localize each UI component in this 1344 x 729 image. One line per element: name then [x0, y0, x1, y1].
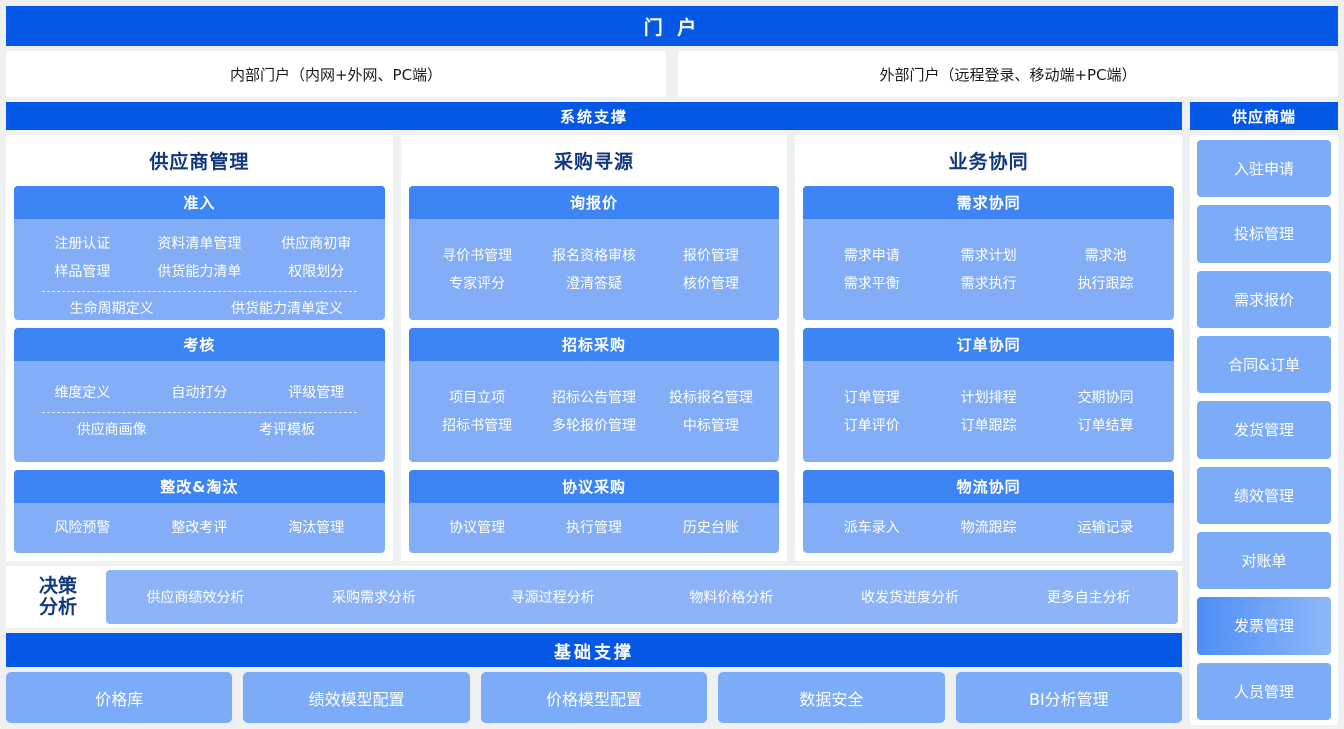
supplier-item-label: 合同&订单 [1228, 354, 1300, 375]
module-item[interactable]: 样品管理 [24, 261, 141, 281]
decision-item[interactable]: 采购需求分析 [285, 587, 464, 607]
module-item[interactable]: 寻价书管理 [419, 245, 536, 265]
module-item[interactable]: 需求计划 [930, 245, 1047, 265]
module-item[interactable]: 交期协同 [1047, 387, 1164, 407]
module-item[interactable]: 整改考评 [141, 517, 258, 537]
supplier-side-label: 供应商端 [1232, 106, 1296, 127]
module-item[interactable]: 供货能力清单定义 [199, 298, 374, 318]
module-item[interactable]: 考评模板 [199, 419, 374, 439]
basic-support-section: 基础支撑 价格库 绩效模型配置 价格模型配置 数据安全 [6, 633, 1182, 729]
basic-item-performance-model-config[interactable]: 绩效模型配置 [243, 672, 469, 723]
decision-item[interactable]: 寻源过程分析 [463, 587, 642, 607]
supplier-item-entry-application[interactable]: 入驻申请 [1197, 140, 1331, 197]
module-item[interactable]: 历史台账 [652, 517, 769, 537]
group-agreement-purchase: 协议采购 协议管理 执行管理 历史台账 [409, 470, 780, 553]
section-header-band: 系统支撑 供应商端 [6, 102, 1338, 130]
group-rectify-eliminate: 整改&淘汰 风险预警 整改考评 淘汰管理 [14, 470, 385, 553]
supplier-item-bid-management[interactable]: 投标管理 [1197, 205, 1331, 262]
basic-item-bi-analysis-management[interactable]: BI分析管理 [956, 672, 1182, 723]
module-item[interactable]: 权限划分 [258, 261, 375, 281]
supplier-item-contract-order[interactable]: 合同&订单 [1197, 336, 1331, 393]
group-head: 物流协同 [803, 470, 1174, 503]
group-head: 询报价 [409, 186, 780, 219]
module-row: 协议管理 执行管理 历史台账 [419, 513, 770, 541]
module-item[interactable]: 专家评分 [419, 273, 536, 293]
module-item[interactable]: 报价管理 [652, 245, 769, 265]
supplier-item-demand-quotation[interactable]: 需求报价 [1197, 271, 1331, 328]
module-row: 供应商画像 考评模板 [24, 415, 375, 443]
group-admission: 准入 注册认证 资料清单管理 供应商初审 样品管理 供货能力清单 权限划分 [14, 186, 385, 320]
module-row: 招标书管理 多轮报价管理 中标管理 [419, 411, 770, 439]
supplier-side-column: 入驻申请 投标管理 需求报价 合同&订单 发货管理 绩效管理 对账单 发票管理 [1190, 135, 1338, 725]
basic-item-price-model-config[interactable]: 价格模型配置 [481, 672, 707, 723]
module-item[interactable]: 需求申请 [813, 245, 930, 265]
basic-support-items: 价格库 绩效模型配置 价格模型配置 数据安全 BI分析管理 [6, 672, 1182, 729]
supplier-item-invoice-management[interactable]: 发票管理 [1197, 597, 1331, 654]
decision-item[interactable]: 更多自主分析 [999, 587, 1178, 607]
portal-title-bar: 门 户 [6, 6, 1338, 46]
module-row: 订单评价 订单跟踪 订单结算 [813, 411, 1164, 439]
module-row: 风险预警 整改考评 淘汰管理 [24, 513, 375, 541]
module-item[interactable]: 执行管理 [536, 517, 653, 537]
left-area: 供应商管理 准入 注册认证 资料清单管理 供应商初审 样品管理 供货能力清单 [6, 135, 1182, 725]
module-row: 需求申请 需求计划 需求池 [813, 241, 1164, 269]
module-item[interactable]: 投标报名管理 [652, 387, 769, 407]
card-title: 业务协同 [803, 141, 1174, 178]
module-item[interactable]: 协议管理 [419, 517, 536, 537]
portal-external[interactable]: 外部门户（远程登录、移动端+PC端） [678, 51, 1338, 97]
module-item[interactable]: 需求平衡 [813, 273, 930, 293]
module-item[interactable]: 计划排程 [930, 387, 1047, 407]
module-item[interactable]: 订单评价 [813, 415, 930, 435]
group-head: 订单协同 [803, 328, 1174, 361]
module-item[interactable]: 招标公告管理 [536, 387, 653, 407]
group-body: 维度定义 自动打分 评级管理 供应商画像 考评模板 [14, 361, 385, 462]
module-item[interactable]: 派车录入 [813, 517, 930, 537]
module-item[interactable]: 多轮报价管理 [536, 415, 653, 435]
group-head: 协议采购 [409, 470, 780, 503]
portal-internal-label: 内部门户（内网+外网、PC端） [230, 64, 442, 85]
module-row: 样品管理 供货能力清单 权限划分 [24, 257, 375, 285]
basic-support-label: 基础支撑 [554, 638, 634, 663]
decision-label-line1: 决策 [39, 576, 77, 597]
supplier-item-label: 需求报价 [1234, 289, 1294, 310]
supplier-item-reconciliation-statement[interactable]: 对账单 [1197, 532, 1331, 589]
group-body: 协议管理 执行管理 历史台账 [409, 503, 780, 553]
decision-label-line2: 分析 [39, 597, 77, 618]
module-row: 项目立项 招标公告管理 投标报名管理 [419, 383, 770, 411]
group-head: 考核 [14, 328, 385, 361]
group-order-collaboration: 订单协同 订单管理 计划排程 交期协同 订单评价 订单跟踪 订单结算 [803, 328, 1174, 462]
module-item[interactable]: 需求执行 [930, 273, 1047, 293]
module-item[interactable]: 注册认证 [24, 233, 141, 253]
system-support-label: 系统支撑 [560, 106, 628, 127]
group-logistics-collaboration: 物流协同 派车录入 物流跟踪 运输记录 [803, 470, 1174, 553]
module-row: 专家评分 澄清答疑 核价管理 [419, 269, 770, 297]
basic-item-price-library[interactable]: 价格库 [6, 672, 232, 723]
module-row: 注册认证 资料清单管理 供应商初审 [24, 229, 375, 257]
card-title: 采购寻源 [409, 141, 780, 178]
group-head: 招标采购 [409, 328, 780, 361]
group-body: 注册认证 资料清单管理 供应商初审 样品管理 供货能力清单 权限划分 [14, 219, 385, 320]
supplier-side-header: 供应商端 [1190, 102, 1338, 130]
supplier-item-label: 入驻申请 [1234, 158, 1294, 179]
module-item[interactable]: 核价管理 [652, 273, 769, 293]
decision-item[interactable]: 收发货进度分析 [821, 587, 1000, 607]
module-row: 需求平衡 需求执行 执行跟踪 [813, 269, 1164, 297]
divider [42, 291, 357, 292]
supplier-item-performance-management[interactable]: 绩效管理 [1197, 467, 1331, 524]
group-head: 整改&淘汰 [14, 470, 385, 503]
basic-item-label: BI分析管理 [1029, 686, 1109, 710]
group-demand-collaboration: 需求协同 需求申请 需求计划 需求池 需求平衡 需求执行 执行跟踪 [803, 186, 1174, 320]
supplier-item-shipping-management[interactable]: 发货管理 [1197, 401, 1331, 458]
portal-title-text: 门 户 [644, 13, 701, 40]
decision-item[interactable]: 物料价格分析 [642, 587, 821, 607]
module-item[interactable]: 生命周期定义 [24, 298, 199, 318]
module-row: 维度定义 自动打分 评级管理 [24, 378, 375, 406]
module-item[interactable]: 招标书管理 [419, 415, 536, 435]
module-item[interactable]: 项目立项 [419, 387, 536, 407]
module-row: 生命周期定义 供货能力清单定义 [24, 294, 375, 320]
decision-item[interactable]: 供应商绩效分析 [106, 587, 285, 607]
module-row: 派车录入 物流跟踪 运输记录 [813, 513, 1164, 541]
module-item[interactable]: 淘汰管理 [258, 517, 375, 537]
module-row: 寻价书管理 报名资格审核 报价管理 [419, 241, 770, 269]
group-head: 准入 [14, 186, 385, 219]
portal-internal[interactable]: 内部门户（内网+外网、PC端） [6, 51, 666, 97]
module-item[interactable]: 澄清答疑 [536, 273, 653, 293]
group-body: 风险预警 整改考评 淘汰管理 [14, 503, 385, 553]
group-inquiry-quotation: 询报价 寻价书管理 报名资格审核 报价管理 专家评分 澄清答疑 核价管理 [409, 186, 780, 320]
module-item[interactable]: 需求池 [1047, 245, 1164, 265]
module-item[interactable]: 报名资格审核 [536, 245, 653, 265]
module-item[interactable]: 执行跟踪 [1047, 273, 1164, 293]
decision-analysis-section: 决策 分析 供应商绩效分析 采购需求分析 寻源过程分析 物料价格分析 收发货进度… [6, 566, 1182, 628]
architecture-diagram: 门 户 内部门户（内网+外网、PC端） 外部门户（远程登录、移动端+PC端） 系… [0, 0, 1344, 725]
basic-item-label: 价格模型配置 [546, 686, 642, 710]
module-item[interactable]: 风险预警 [24, 517, 141, 537]
group-body: 需求申请 需求计划 需求池 需求平衡 需求执行 执行跟踪 [803, 219, 1174, 320]
group-body: 寻价书管理 报名资格审核 报价管理 专家评分 澄清答疑 核价管理 [409, 219, 780, 320]
supplier-item-label: 发票管理 [1234, 615, 1294, 636]
supplier-item-label: 投标管理 [1234, 223, 1294, 244]
supplier-item-label: 绩效管理 [1234, 485, 1294, 506]
system-support-header: 系统支撑 [6, 102, 1182, 130]
module-item[interactable]: 供应商初审 [258, 233, 375, 253]
group-assessment: 考核 维度定义 自动打分 评级管理 供应商画像 考评模板 [14, 328, 385, 462]
module-item[interactable]: 供应商画像 [24, 419, 199, 439]
supplier-item-label: 人员管理 [1234, 681, 1294, 702]
group-body: 订单管理 计划排程 交期协同 订单评价 订单跟踪 订单结算 [803, 361, 1174, 462]
card-business-collaboration: 业务协同 需求协同 需求申请 需求计划 需求池 需求平衡 需求执行 [795, 135, 1182, 561]
basic-item-label: 数据安全 [799, 686, 863, 710]
decision-analysis-items: 供应商绩效分析 采购需求分析 寻源过程分析 物料价格分析 收发货进度分析 更多自… [106, 570, 1178, 624]
main-body: 供应商管理 准入 注册认证 资料清单管理 供应商初审 样品管理 供货能力清单 [6, 135, 1338, 725]
card-supplier-management: 供应商管理 准入 注册认证 资料清单管理 供应商初审 样品管理 供货能力清单 [6, 135, 393, 561]
supplier-item-personnel-management[interactable]: 人员管理 [1197, 663, 1331, 720]
group-head: 需求协同 [803, 186, 1174, 219]
module-item[interactable]: 供货能力清单 [141, 261, 258, 281]
supplier-item-label: 对账单 [1241, 550, 1286, 571]
module-item[interactable]: 维度定义 [24, 382, 141, 402]
module-item[interactable]: 评级管理 [258, 382, 375, 402]
divider [42, 412, 357, 413]
basic-item-label: 价格库 [95, 686, 143, 710]
basic-item-data-security[interactable]: 数据安全 [718, 672, 944, 723]
basic-support-header: 基础支撑 [6, 633, 1182, 667]
group-body: 派车录入 物流跟踪 运输记录 [803, 503, 1174, 553]
module-item[interactable]: 自动打分 [141, 382, 258, 402]
module-item[interactable]: 运输记录 [1047, 517, 1164, 537]
module-item[interactable]: 资料清单管理 [141, 233, 258, 253]
portal-row: 内部门户（内网+外网、PC端） 外部门户（远程登录、移动端+PC端） [6, 51, 1338, 97]
module-item[interactable]: 订单管理 [813, 387, 930, 407]
group-bidding-purchase: 招标采购 项目立项 招标公告管理 投标报名管理 招标书管理 多轮报价管理 中标管… [409, 328, 780, 462]
module-item[interactable]: 订单跟踪 [930, 415, 1047, 435]
module-item[interactable]: 订单结算 [1047, 415, 1164, 435]
module-item[interactable]: 中标管理 [652, 415, 769, 435]
supplier-item-label: 发货管理 [1234, 419, 1294, 440]
domain-cards: 供应商管理 准入 注册认证 资料清单管理 供应商初审 样品管理 供货能力清单 [6, 135, 1182, 561]
card-purchase-sourcing: 采购寻源 询报价 寻价书管理 报名资格审核 报价管理 专家评分 澄清答疑 [401, 135, 788, 561]
portal-external-label: 外部门户（远程登录、移动端+PC端） [879, 64, 1136, 85]
module-item[interactable]: 物流跟踪 [930, 517, 1047, 537]
basic-item-label: 绩效模型配置 [309, 686, 405, 710]
group-body: 项目立项 招标公告管理 投标报名管理 招标书管理 多轮报价管理 中标管理 [409, 361, 780, 462]
module-row: 订单管理 计划排程 交期协同 [813, 383, 1164, 411]
card-title: 供应商管理 [14, 141, 385, 178]
decision-analysis-label: 决策 分析 [10, 570, 106, 624]
